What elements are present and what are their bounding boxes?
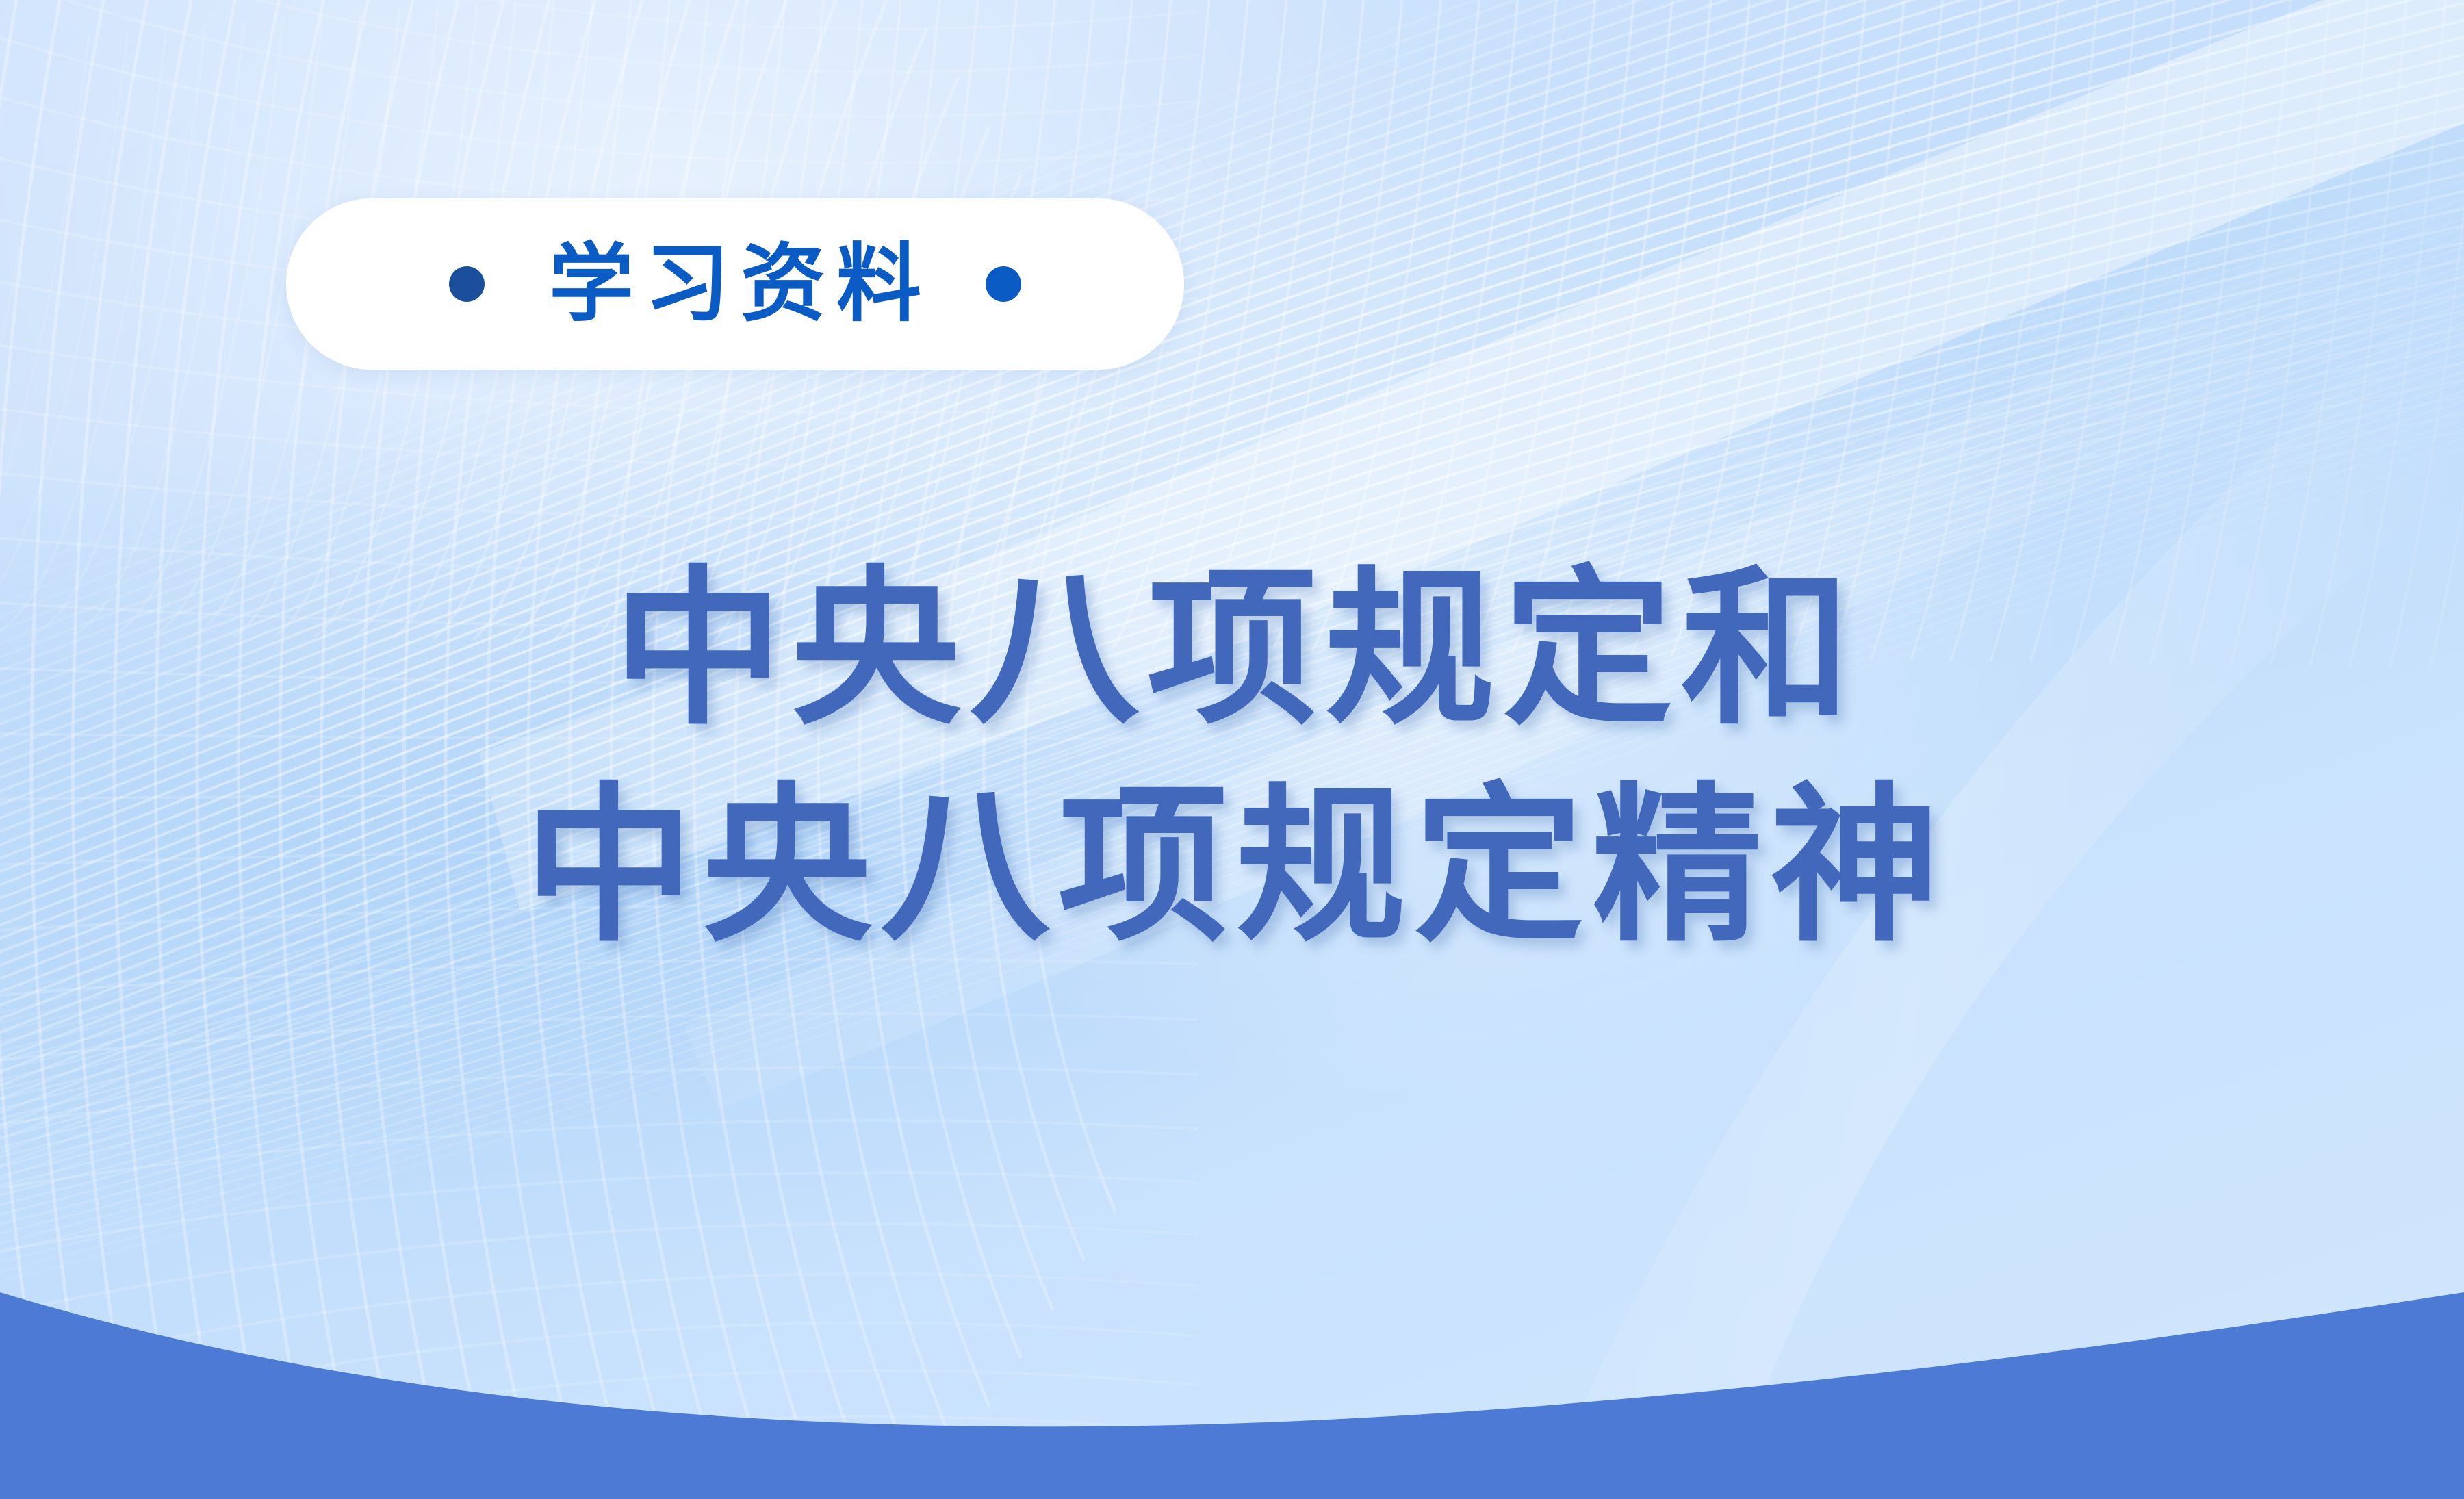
poster-canvas: 学习资料 中央八项规定和 中央八项规定精神 — [0, 0, 2464, 1499]
dot-icon-right — [986, 266, 1021, 302]
study-material-badge[interactable]: 学习资料 — [286, 198, 1184, 370]
title-line-1: 中央八项规定和 — [0, 541, 2464, 758]
badge-label: 学习资料 — [538, 242, 932, 326]
page-title: 中央八项规定和 中央八项规定精神 — [0, 541, 2464, 975]
bottom-wave-decoration — [0, 1212, 2464, 1499]
title-line-2: 中央八项规定精神 — [0, 758, 2464, 975]
dot-icon-left — [449, 266, 485, 302]
